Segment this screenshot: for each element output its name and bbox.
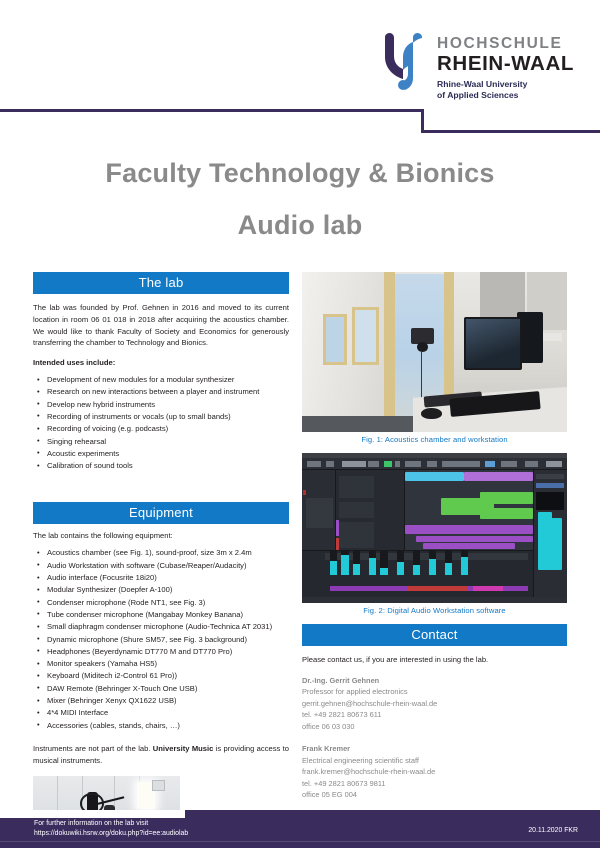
- hochschule-y-logo-icon: [381, 32, 427, 92]
- instruments-note-bold: University Music: [153, 744, 214, 753]
- intended-uses-lead: Intended uses include:: [33, 358, 289, 367]
- figure-2: Fig. 2: Digital Audio Workstation softwa…: [302, 453, 567, 615]
- header-rule-horizontal-right: [421, 130, 600, 133]
- footer-date: 20.11.2020 FKR: [528, 827, 578, 834]
- figure-2-photo-daw-software: [302, 453, 567, 603]
- list-item: Keyboard (Miditech i2-Control 61 Pro)): [33, 670, 289, 682]
- list-item: Small diaphragm condenser microphone (Au…: [33, 621, 289, 633]
- list-item: Accessories (cables, stands, chairs, …): [33, 720, 289, 732]
- lab-paragraph: The lab was founded by Prof. Gehnen in 2…: [33, 302, 289, 349]
- footer-info-line1: For further information on the lab visit: [34, 820, 148, 827]
- list-item: Recording of instruments or vocals (up t…: [33, 411, 289, 423]
- list-item: Calibration of sound tools: [33, 460, 289, 472]
- contact-name: Frank Kremer: [302, 743, 567, 754]
- contact-intro: Please contact us, if you are interested…: [302, 655, 567, 664]
- university-logo: HOCHSCHULE RHEIN-WAAL Rhine-Waal Univers…: [381, 32, 574, 100]
- list-item: Monitor speakers (Yamaha HS5): [33, 658, 289, 670]
- figure-1-photo-acoustics-chamber: [302, 272, 567, 432]
- logo-subline-1: Rhine-Waal University: [437, 79, 527, 89]
- left-column: The lab The lab was founded by Prof. Geh…: [33, 272, 289, 848]
- section-header-equipment: Equipment: [33, 502, 289, 524]
- logo-line-rhein-waal: RHEIN-WAAL: [437, 53, 574, 75]
- contact-email[interactable]: gerrit.gehnen@hochschule-rhein-waal.de: [302, 698, 567, 709]
- logo-wordmark: HOCHSCHULE RHEIN-WAAL Rhine-Waal Univers…: [437, 32, 574, 100]
- contact-office: office 05 EG 004: [302, 789, 567, 800]
- list-item: Dynamic microphone (Shure SM57, see Fig.…: [33, 634, 289, 646]
- list-item: Audio Workstation with software (Cubase/…: [33, 560, 289, 572]
- contact-person: Dr.-Ing. Gerrit Gehnen Professor for app…: [302, 675, 567, 732]
- intended-uses-list: Development of new modules for a modular…: [33, 374, 289, 472]
- list-item: DAW Remote (Behringer X-Touch One USB): [33, 683, 289, 695]
- footer-notch: [0, 810, 185, 818]
- figure-2-caption: Fig. 2: Digital Audio Workstation softwa…: [302, 606, 567, 615]
- figure-1: Fig. 1: Acoustics chamber and workstatio…: [302, 272, 567, 444]
- list-item: Audio interface (Focusrite 18i20): [33, 572, 289, 584]
- footer-divider: [0, 841, 600, 842]
- poster-page: HOCHSCHULE RHEIN-WAAL Rhine-Waal Univers…: [0, 0, 600, 848]
- page-footer: For further information on the lab visit…: [0, 810, 600, 848]
- contact-role: Electrical engineering scientific staff: [302, 755, 567, 766]
- right-column: Fig. 1: Acoustics chamber and workstatio…: [302, 272, 567, 801]
- list-item: 4*4 MIDI Interface: [33, 707, 289, 719]
- list-item: Mixer (Behringer Xenyx QX1622 USB): [33, 695, 289, 707]
- list-item: Modular Synthesizer (Doepfer A-100): [33, 584, 289, 596]
- logo-subline: Rhine-Waal University of Applied Science…: [437, 79, 574, 100]
- logo-line-hochschule: HOCHSCHULE: [437, 36, 574, 52]
- list-item: Recording of voicing (e.g. podcasts): [33, 423, 289, 435]
- page-title: Faculty Technology & Bionics: [0, 158, 600, 189]
- section-header-contact: Contact: [302, 624, 567, 646]
- list-item: Develop new hybrid instruments: [33, 399, 289, 411]
- list-item: Singing rehearsal: [33, 436, 289, 448]
- footer-wiki-link[interactable]: https://dokuwiki.hsrw.org/doku.php?id=ee…: [34, 830, 188, 837]
- figure-1-caption: Fig. 1: Acoustics chamber and workstatio…: [302, 435, 567, 444]
- list-item: Headphones (Beyerdynamic DT770 M and DT7…: [33, 646, 289, 658]
- list-item: Acoustics chamber (see Fig. 1), sound-pr…: [33, 547, 289, 559]
- contact-section: Contact Please contact us, if you are in…: [302, 624, 567, 801]
- page-subtitle: Audio lab: [0, 210, 600, 241]
- contact-person: Frank Kremer Electrical engineering scie…: [302, 743, 567, 800]
- header-rule-horizontal-left: [0, 109, 424, 112]
- list-item: Condenser microphone (Rode NT1, see Fig.…: [33, 597, 289, 609]
- contact-tel: tel. +49 2821 80673 9811: [302, 778, 567, 789]
- equipment-lead: The lab contains the following equipment…: [33, 531, 289, 540]
- section-header-the-lab: The lab: [33, 272, 289, 294]
- list-item: Development of new modules for a modular…: [33, 374, 289, 386]
- contact-tel: tel. +49 2821 80673 611: [302, 709, 567, 720]
- equipment-list: Acoustics chamber (see Fig. 1), sound-pr…: [33, 547, 289, 731]
- footer-info: For further information on the lab visit…: [34, 819, 188, 839]
- list-item: Tube condenser microphone (Mangabay Monk…: [33, 609, 289, 621]
- contact-role: Professor for applied electronics: [302, 686, 567, 697]
- list-item: Acoustic experiments: [33, 448, 289, 460]
- instruments-note: Instruments are not part of the lab. Uni…: [33, 743, 289, 767]
- page-header: HOCHSCHULE RHEIN-WAAL Rhine-Waal Univers…: [0, 0, 600, 135]
- contact-name: Dr.-Ing. Gerrit Gehnen: [302, 675, 567, 686]
- logo-subline-2: of Applied Sciences: [437, 90, 518, 100]
- instruments-note-part1: Instruments are not part of the lab.: [33, 744, 153, 753]
- contact-email[interactable]: frank.kremer@hochschule-rhein-waal.de: [302, 766, 567, 777]
- list-item: Research on new interactions between a p…: [33, 386, 289, 398]
- contact-office: office 06 03 030: [302, 721, 567, 732]
